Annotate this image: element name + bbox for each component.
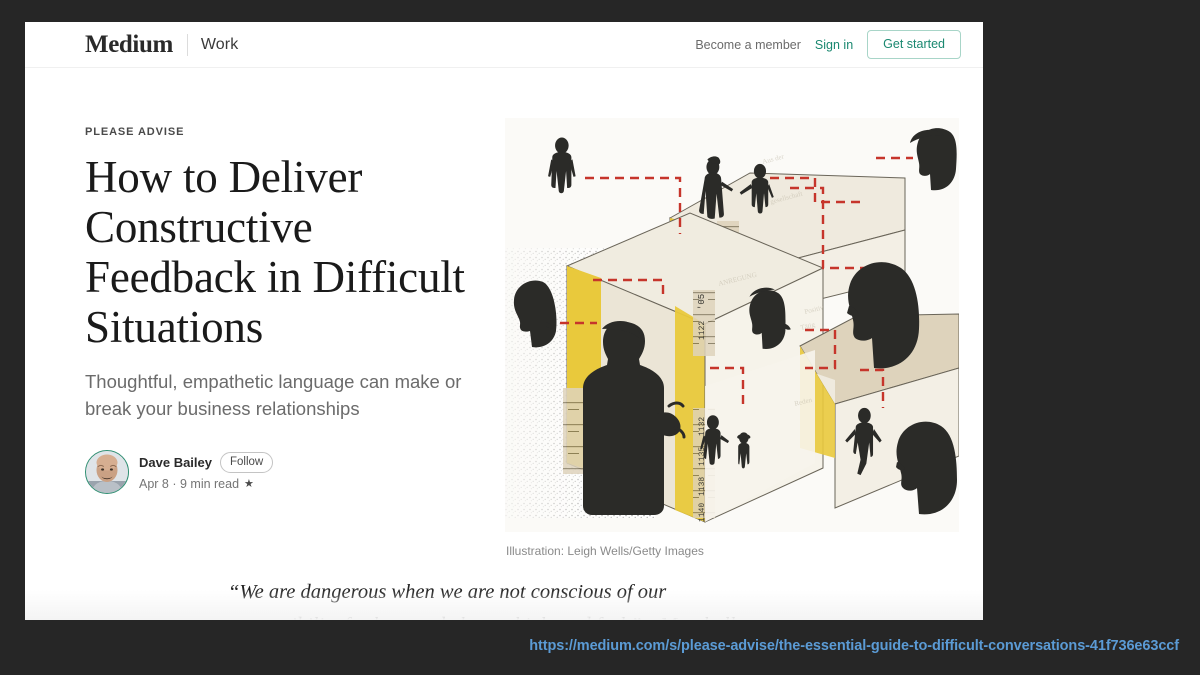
avatar[interactable] <box>85 450 129 494</box>
article-header-section: PLEASE ADVISE How to Deliver Constructiv… <box>25 68 983 558</box>
follow-button[interactable]: Follow <box>220 452 273 473</box>
illustration-image: '05 1122 1132 1135 1138 1140 <box>505 118 959 532</box>
pull-quote-block: “We are dangerous when we are not consci… <box>228 558 780 620</box>
article-kicker[interactable]: PLEASE ADVISE <box>85 126 479 138</box>
get-started-button[interactable]: Get started <box>867 30 961 59</box>
byline-meta-row: Apr 8 · 9 min read ★ <box>139 476 273 493</box>
star-icon[interactable]: ★ <box>244 477 254 492</box>
url-label[interactable]: https://medium.com/s/please-advise/the-e… <box>0 638 1179 654</box>
webpage-card: Medium Work Become a member Sign in Get … <box>25 22 983 620</box>
publication-name[interactable]: Work <box>201 36 238 54</box>
become-a-member-link[interactable]: Become a member <box>695 38 801 52</box>
author-name[interactable]: Dave Bailey <box>139 454 212 472</box>
article-figure-column: '05 1122 1132 1135 1138 1140 <box>505 68 983 558</box>
screenshot-root: Medium Work Become a member Sign in Get … <box>0 0 1200 675</box>
figure-caption: Illustration: Leigh Wells/Getty Images <box>505 544 971 558</box>
article-text-column: PLEASE ADVISE How to Deliver Constructiv… <box>25 68 505 558</box>
pull-quote: “We are dangerous when we are not consci… <box>228 576 780 620</box>
article-meta: Apr 8 · 9 min read <box>139 476 239 493</box>
article-subtitle: Thoughtful, empathetic language can make… <box>85 369 465 423</box>
article-figure: '05 1122 1132 1135 1138 1140 <box>505 118 971 558</box>
pull-quote-text: “We are dangerous when we are not consci… <box>228 581 735 620</box>
brand-divider <box>187 34 188 56</box>
byline: Dave Bailey Follow Apr 8 · 9 min read ★ <box>85 450 479 494</box>
byline-text: Dave Bailey Follow Apr 8 · 9 min read ★ <box>139 452 273 493</box>
svg-text:1122: 1122 <box>698 321 707 340</box>
svg-text:'05: '05 <box>697 294 707 310</box>
page-title: How to Deliver Constructive Feedback in … <box>85 153 479 353</box>
byline-author-row: Dave Bailey Follow <box>139 452 273 473</box>
site-header: Medium Work Become a member Sign in Get … <box>25 22 983 68</box>
sign-in-link[interactable]: Sign in <box>815 38 853 52</box>
brand-group[interactable]: Medium Work <box>85 32 238 57</box>
medium-logo[interactable]: Medium <box>85 32 173 57</box>
header-actions: Become a member Sign in Get started <box>695 30 961 59</box>
